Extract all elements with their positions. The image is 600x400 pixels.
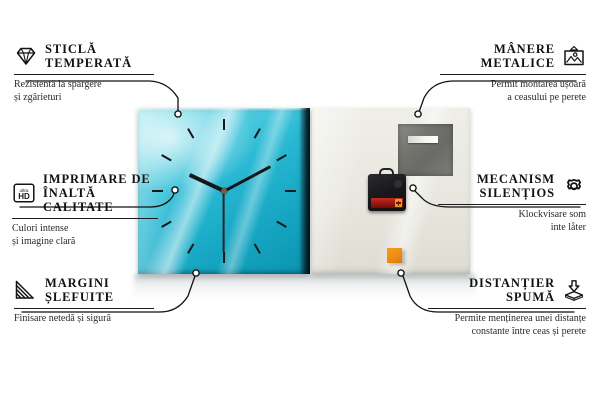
feature-edges-rule [14,308,154,309]
feature-hooks-title: MÂNERE METALICE [481,42,555,70]
feature-hooks-rule [440,74,586,75]
svg-text:HD: HD [18,192,30,201]
product-infographic: STICLĂ TEMPERATĂ Rezistentă la spargere … [0,0,600,400]
gear-icon [562,175,586,197]
feature-spacer: DISTANȚIER SPUMĂ Permite menținerea unei… [428,276,586,338]
feature-spacer-rule [428,308,586,309]
feature-edges-head: MARGINI ȘLEFUITE [14,276,160,304]
connector-dot-spacer [398,270,404,276]
feature-print-title: IMPRIMARE DE ÎNALTĂ CALITATE [43,172,164,214]
connector-dot-hooks [415,111,421,117]
feature-hooks-head: MÂNERE METALICE [440,42,586,70]
connector-dot-edges [193,270,199,276]
connector-dots [172,111,421,276]
ultra-hd-icon: ultra HD [12,182,36,204]
feature-mechanism: MECANISM SILENȚIOS Klockvisare som inte … [438,172,586,234]
feature-print-head: ultra HD IMPRIMARE DE ÎNALTĂ CALITATE [12,172,164,214]
connector-dot-mechanism [410,185,416,191]
feature-hooks: MÂNERE METALICE Permit montarea ușoară a… [440,42,586,104]
feature-mechanism-rule [438,204,586,205]
feature-edges-title: MARGINI ȘLEFUITE [45,276,114,304]
feature-glass-head: STICLĂ TEMPERATĂ [14,42,160,70]
feature-mechanism-head: MECANISM SILENȚIOS [438,172,586,200]
feature-spacer-subtitle: Permite menținerea unei distanțe constan… [428,313,586,338]
feature-edges: MARGINI ȘLEFUITE Finisare netedă și sigu… [14,276,160,326]
foam-spacer-icon [562,279,586,301]
feature-mechanism-title: MECANISM SILENȚIOS [477,172,555,200]
feature-glass-subtitle: Rezistentă la spargere și zgârieturi [14,79,160,104]
feature-spacer-head: DISTANȚIER SPUMĂ [428,276,586,304]
diamond-icon [14,45,38,67]
feature-mechanism-subtitle: Klockvisare som inte låter [438,209,586,234]
feature-edges-subtitle: Finisare netedă și sigură [14,313,160,326]
connector-dot-glass [175,111,181,117]
connector-dot-print [172,187,178,193]
hanging-picture-icon [562,45,586,67]
feature-print-subtitle: Culori intense și imagine clară [12,223,164,248]
feature-hooks-subtitle: Permit montarea ușoară a ceasului pe per… [440,79,586,104]
feature-glass: STICLĂ TEMPERATĂ Rezistentă la spargere … [14,42,160,104]
feature-print: ultra HD IMPRIMARE DE ÎNALTĂ CALITATE Cu… [12,172,164,248]
feature-print-rule [12,218,158,219]
feature-glass-title: STICLĂ TEMPERATĂ [45,42,132,70]
feature-glass-rule [14,74,154,75]
feature-spacer-title: DISTANȚIER SPUMĂ [469,276,555,304]
beveled-edge-icon [14,279,38,301]
